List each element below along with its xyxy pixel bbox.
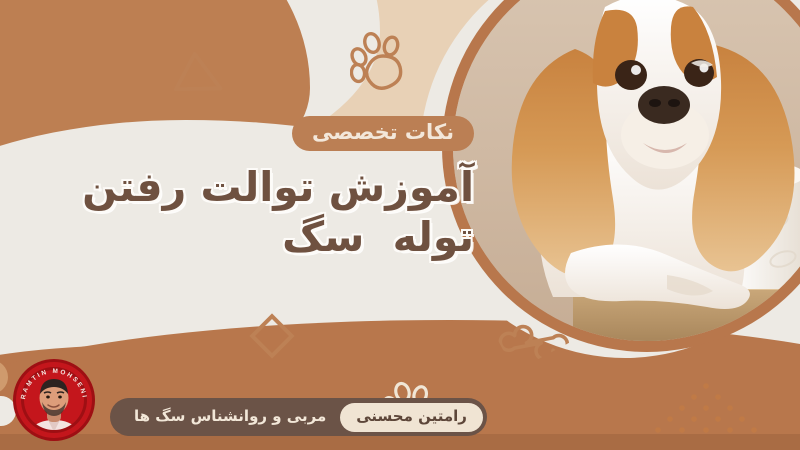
photo-medallion [442,0,800,352]
diamond-outline-icon [248,312,296,360]
title-line-2: توله سگ [44,212,474,262]
headline-block: نکات تخصصی آموزش توالت رفتن توله سگ [44,116,474,262]
thumbnail-canvas: نکات تخصصی آموزش توالت رفتن توله سگ رامت… [0,0,800,450]
author-role: مربی و روانشناس سگ ها [130,407,340,427]
page-title: آموزش توالت رفتن توله سگ [44,162,474,262]
byline-bar: رامتین محسنی مربی و روانشناس سگ ها [110,398,487,436]
triangle-outline-icon [164,44,228,106]
avatar-logo-icon: RAMTIN MOHSENI [12,358,96,442]
dot-grid-triangle [636,380,776,444]
badge-expert-tips: نکات تخصصی [292,116,474,151]
author-name: رامتین محسنی [340,403,483,432]
avatar: RAMTIN MOHSENI [12,358,96,442]
title-line-1: آموزش توالت رفتن [82,163,474,211]
paw-print-outline-icon [350,30,408,90]
